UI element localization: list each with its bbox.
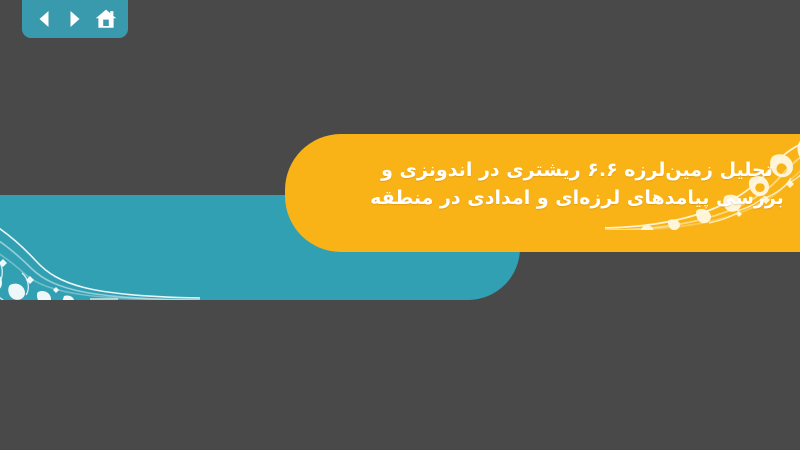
slide-viewer: تحلیل زمین‌لرزه ۶.۶ ریشتری در اندونزی و … [0, 0, 800, 450]
orange-title-banner: تحلیل زمین‌لرزه ۶.۶ ریشتری در اندونزی و … [285, 134, 800, 252]
slide-navigation-toolbar [22, 0, 128, 38]
next-slide-button[interactable] [62, 6, 88, 32]
home-slide-button[interactable] [93, 6, 119, 32]
arabesque-corner-ornament-teal [0, 195, 200, 300]
slide-title-line-1: تحلیل زمین‌لرزه ۶.۶ ریشتری در اندونزی و [367, 156, 787, 184]
slide-title: تحلیل زمین‌لرزه ۶.۶ ریشتری در اندونزی و … [367, 156, 787, 212]
home-icon [94, 7, 118, 31]
slide-title-line-2: بررسی پیامدهای لرزه‌ای و امدادی در منطقه [367, 184, 787, 212]
triangle-left-icon [33, 8, 55, 30]
triangle-right-icon [64, 8, 86, 30]
previous-slide-button[interactable] [31, 6, 57, 32]
